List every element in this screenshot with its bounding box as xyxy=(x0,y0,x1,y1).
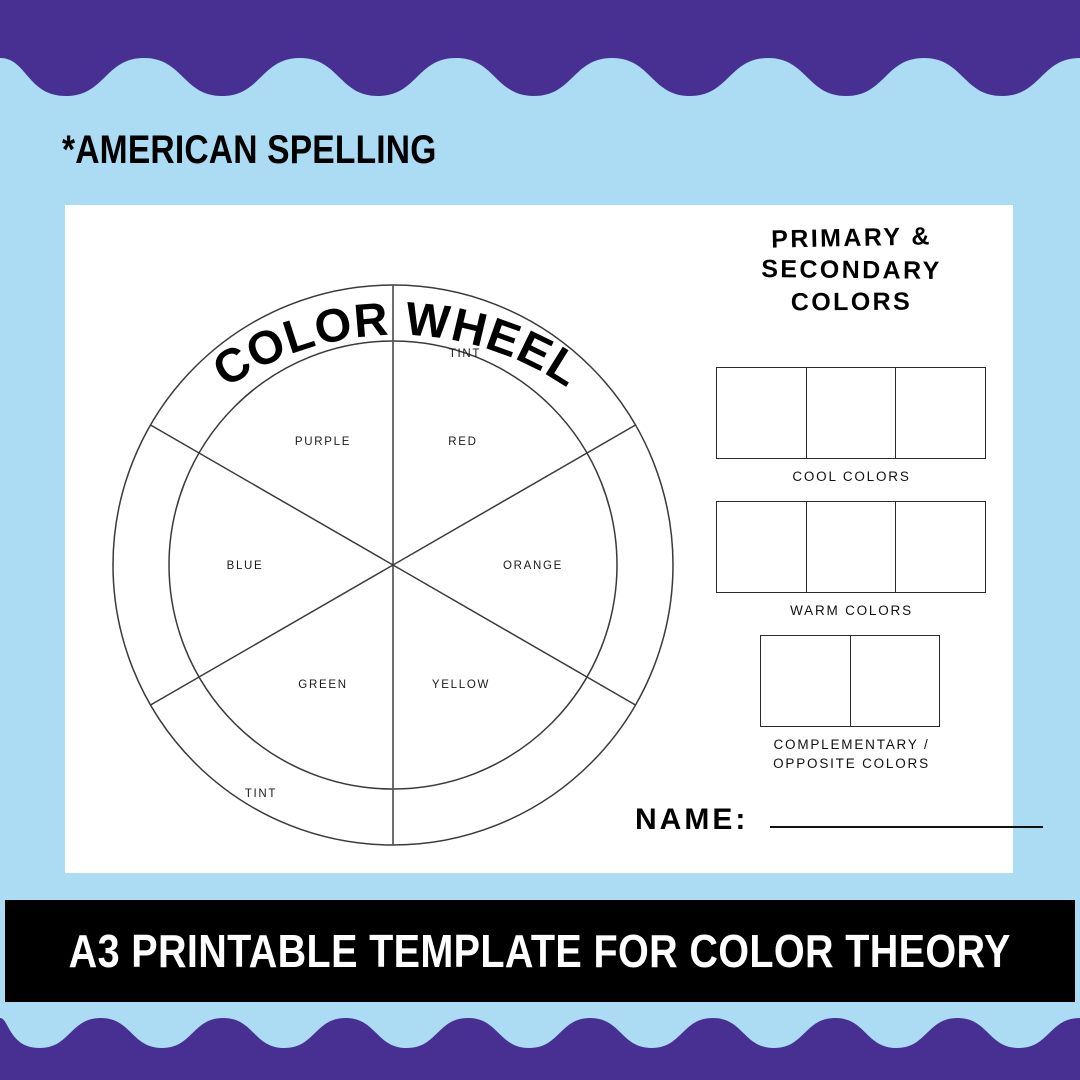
wheel-segment-label-red: RED xyxy=(448,436,477,448)
swatch-caption-warm: WARM COLORS xyxy=(690,601,1013,620)
swatch-group-complementary: COMPLEMENTARY / OPPOSITE COLORS xyxy=(690,635,1013,773)
swatch-cell[interactable] xyxy=(851,636,940,726)
wheel-segment-label-green: GREEN xyxy=(298,679,347,691)
bottom-wave-decoration xyxy=(0,970,1080,1080)
panel-title-line-3: COLORS xyxy=(690,285,1013,319)
american-spelling-note: *AMERICAN SPELLING xyxy=(62,128,437,173)
panel-title-line-1: PRIMARY & xyxy=(690,219,1014,258)
swatch-cell[interactable] xyxy=(717,502,807,592)
name-label: NAME: xyxy=(635,803,748,837)
swatch-caption-complementary: COMPLEMENTARY / OPPOSITE COLORS xyxy=(690,735,1013,773)
wheel-segment-label-purple: PURPLE xyxy=(295,436,351,448)
swatch-group-cool: COOL COLORS xyxy=(690,367,1013,486)
swatch-caption-cool: COOL COLORS xyxy=(690,467,1013,486)
swatch-row-complementary xyxy=(760,635,940,727)
swatch-row-warm xyxy=(716,501,986,593)
wheel-tint-label-top: TINT xyxy=(449,348,481,360)
swatch-cell[interactable] xyxy=(807,368,897,458)
name-input-line[interactable] xyxy=(770,826,1043,828)
name-field: NAME: xyxy=(635,803,1043,837)
swatch-cell[interactable] xyxy=(896,368,985,458)
svg-text:COLOR WHEEL: COLOR WHEEL xyxy=(203,291,591,396)
poster-canvas: *AMERICAN SPELLING COLOR WHEEL xyxy=(0,0,1080,1080)
wheel-title-text: COLOR WHEEL xyxy=(203,291,591,396)
primary-secondary-panel: PRIMARY & SECONDARY COLORS COOL COLORS xyxy=(690,205,1013,873)
wheel-segment-label-blue: BLUE xyxy=(227,560,264,572)
color-wheel-area: COLOR WHEEL PURPLE RED BLUE ORANGE GRE xyxy=(65,205,685,873)
swatch-row-cool xyxy=(716,367,986,459)
worksheet-sheet: COLOR WHEEL PURPLE RED BLUE ORANGE GRE xyxy=(65,205,1013,873)
top-wave-decoration xyxy=(0,0,1080,110)
wheel-segment-label-orange: ORANGE xyxy=(503,560,563,572)
wheel-title: COLOR WHEEL xyxy=(203,291,591,396)
swatch-cell[interactable] xyxy=(807,502,897,592)
wheel-segment-label-yellow: YELLOW xyxy=(432,679,490,691)
swatch-cell[interactable] xyxy=(761,636,851,726)
swatch-cell[interactable] xyxy=(896,502,985,592)
wheel-tint-label-bottom: TINT xyxy=(245,788,277,800)
swatch-group-warm: WARM COLORS xyxy=(690,501,1013,620)
panel-title: PRIMARY & SECONDARY COLORS xyxy=(690,222,1013,318)
panel-title-line-2: SECONDARY xyxy=(690,252,1013,287)
swatch-cell[interactable] xyxy=(717,368,807,458)
